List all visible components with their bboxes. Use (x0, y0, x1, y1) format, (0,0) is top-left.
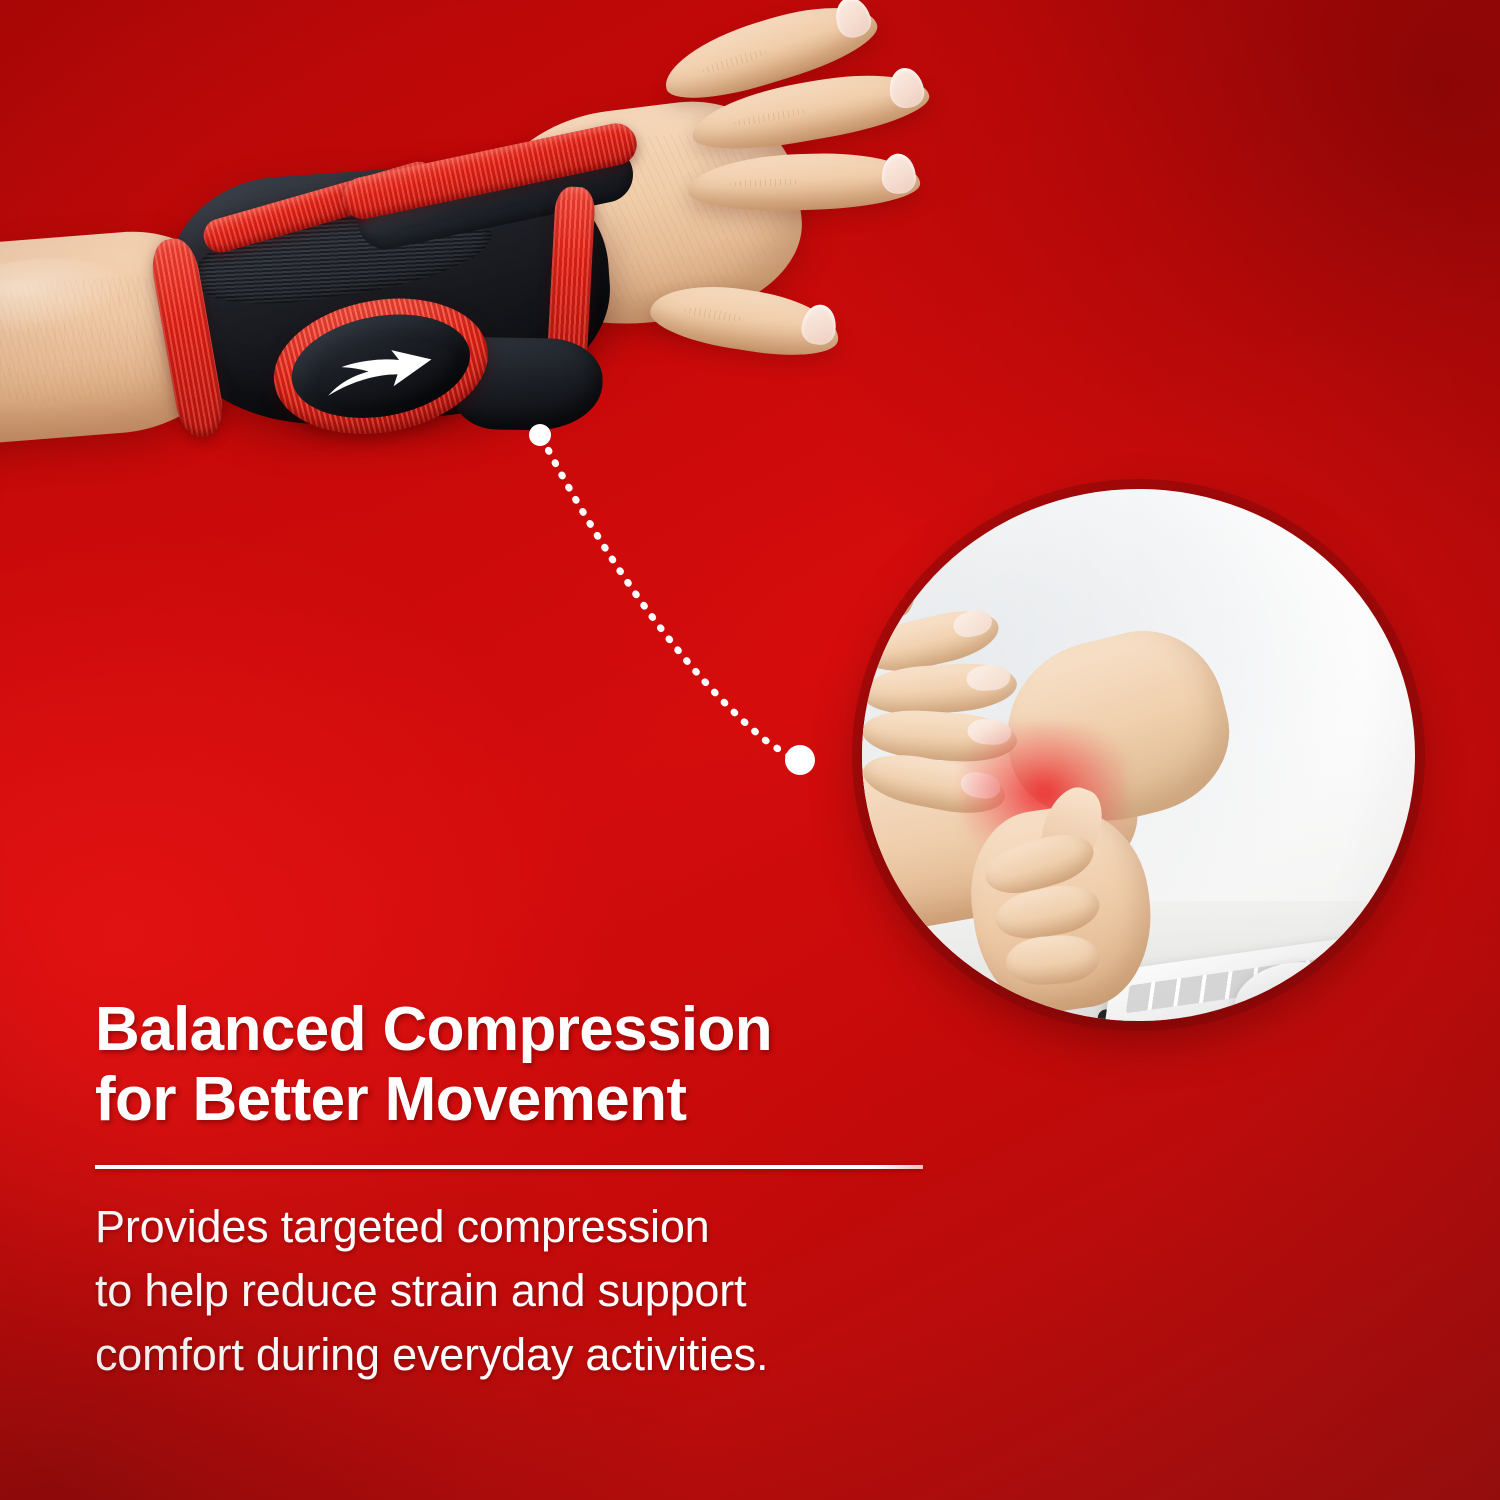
fingernail (966, 663, 1011, 691)
product-marketing-image: Balanced Compression for Better Movement… (0, 0, 1500, 1500)
finger-crease (730, 178, 800, 188)
fingernail (967, 718, 1012, 746)
callout-start-dot (529, 424, 551, 446)
fingernail (831, 0, 875, 41)
body-line-3: comfort during everyday activities. (95, 1323, 1025, 1387)
pain-area-inset-circle (862, 489, 1415, 1021)
fingernail (881, 153, 916, 194)
headline: Balanced Compression for Better Movement (95, 995, 1025, 1135)
fingernail (886, 65, 926, 110)
finger-crease (701, 48, 767, 76)
copy-block: Balanced Compression for Better Movement… (95, 995, 1025, 1387)
body-copy: Provides targeted compression to help re… (95, 1195, 1025, 1387)
headline-divider (95, 1165, 923, 1169)
body-line-1: Provides targeted compression (95, 1195, 1025, 1259)
fingernail (799, 302, 839, 347)
body-line-2: to help reduce strain and support (95, 1259, 1025, 1323)
headline-line-2: for Better Movement (95, 1065, 1025, 1135)
finger-crease (734, 107, 806, 127)
finger-crease (684, 306, 742, 323)
callout-pointer (500, 400, 880, 820)
callout-end-dot (785, 745, 815, 775)
headline-line-1: Balanced Compression (95, 995, 1025, 1065)
inset-photo (862, 489, 1415, 1021)
callout-dotted-line (542, 438, 798, 760)
